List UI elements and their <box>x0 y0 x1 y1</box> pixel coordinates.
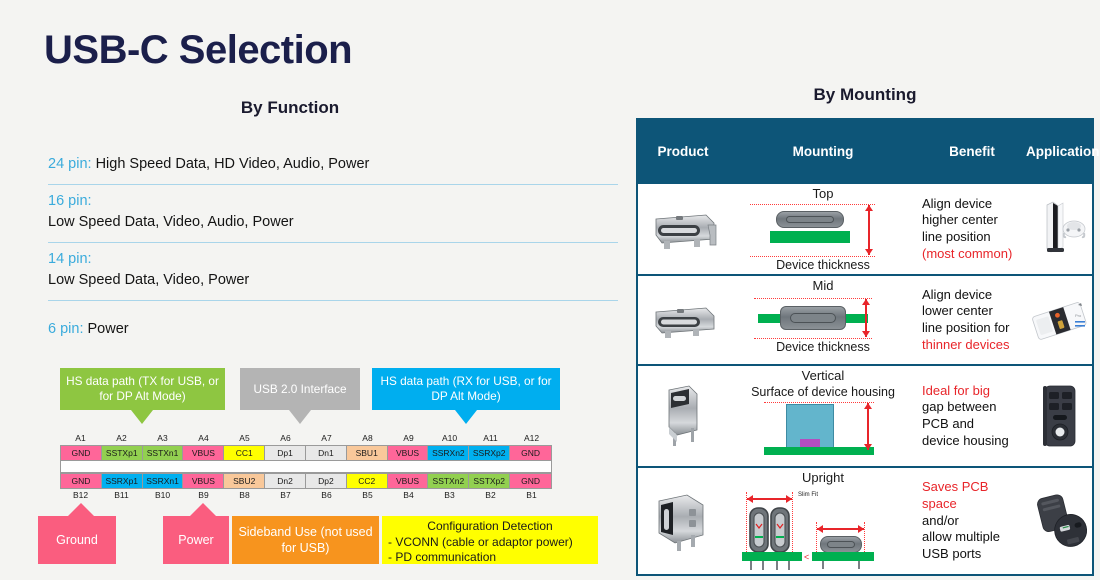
power-hub-icon <box>1033 380 1085 452</box>
cell-mounting: Top Device thickness <box>728 184 918 274</box>
benefit-text: Align device higher center line position… <box>922 196 1012 263</box>
pcb-board-icon-2 <box>812 552 874 561</box>
pin-cell: SSTXp1 <box>102 446 143 460</box>
comparison-marker: < <box>804 552 809 562</box>
function-arrow-usb2-icon <box>289 410 311 424</box>
cell-benefit: Align device lower center line position … <box>918 276 1026 364</box>
pin-position-label: B6 <box>306 489 347 502</box>
pin-position-label: A10 <box>429 432 470 445</box>
pin-position-label: A11 <box>470 432 511 445</box>
pin-position-label: A7 <box>306 432 347 445</box>
config-line-1: - VCONN (cable or adaptor power) <box>388 535 573 551</box>
mount-type-label: Upright <box>728 470 918 485</box>
function-arrow-rx-icon <box>455 410 477 424</box>
page-title: USB-C Selection <box>44 28 352 73</box>
benefit-text: Ideal for big gap between PCB and device… <box>922 383 1009 450</box>
cell-product <box>638 468 728 574</box>
pin-summary-item: 16 pin: Low Speed Data, Video, Audio, Po… <box>48 185 618 243</box>
cell-benefit: Ideal for big gap between PCB and device… <box>918 366 1026 466</box>
mid-mount-connector-icon <box>648 296 718 344</box>
gap-dimension-arrow-icon <box>867 403 869 450</box>
benefit-line: lower center <box>922 303 1009 320</box>
pin-cell: SSTXn2 <box>428 474 469 488</box>
pin-cell: SBU2 <box>224 474 265 488</box>
mount-sub-label: Surface of device housing <box>728 385 918 399</box>
mounting-table: Product Mounting Benefit Application <box>636 118 1094 576</box>
pin-cell: SSRXn1 <box>143 474 184 488</box>
table-row: Vertical Surface of device housing Ideal… <box>638 364 1092 466</box>
pin-desc-label: Low Speed Data, Video, Power <box>48 270 618 291</box>
pin-position-label: A9 <box>388 432 429 445</box>
pin-cell: SSRXn2 <box>428 446 469 460</box>
function-arrow-tx-icon <box>131 410 153 424</box>
pin-count-label: 14 pin: <box>48 249 618 270</box>
pin-cell: CC2 <box>347 474 388 488</box>
connector-contact-icon <box>800 439 820 447</box>
pin-cell: GND <box>61 474 102 488</box>
housing-surface-line <box>764 402 874 403</box>
table-row: Upright Slim Fit <box>638 466 1092 574</box>
benefit-line: line position for <box>922 320 1009 337</box>
legend-power: Power <box>163 516 229 564</box>
game-console-icon <box>1029 199 1089 259</box>
pin-position-label: A6 <box>265 432 306 445</box>
pin-position-label: B3 <box>429 489 470 502</box>
benefit-text: Align device lower center line position … <box>922 287 1009 354</box>
pin-position-label: B2 <box>470 489 511 502</box>
pcb-board-icon <box>742 552 802 561</box>
benefit-line: Align device <box>922 287 1009 304</box>
pin-position-label: A2 <box>101 432 142 445</box>
dim-guide-right <box>792 492 793 556</box>
cell-mounting: Vertical Surface of device housing <box>728 366 918 466</box>
pcb-board-icon <box>764 447 874 455</box>
pin-summary-item: 6 pin: Power <box>48 301 618 349</box>
column-header-mounting: Mounting <box>728 144 918 159</box>
connector-cross-section-icon <box>780 306 846 330</box>
benefit-emphasis: thinner devices <box>922 337 1009 354</box>
cell-product <box>638 366 728 466</box>
legend-sideband: Sideband Use (not used for USB) <box>232 516 379 564</box>
cell-application <box>1026 468 1092 574</box>
pin-cell: Dn1 <box>306 446 347 460</box>
pin-position-label: B1 <box>511 489 552 502</box>
cell-mounting: Upright Slim Fit <box>728 468 918 574</box>
function-group-boxes: HS data path (TX for USB, or for DP Alt … <box>60 368 560 428</box>
pin-position-label: A12 <box>511 432 552 445</box>
cell-mounting: Mid Device thickness <box>728 276 918 364</box>
function-box-usb2: USB 2.0 Interface <box>240 368 360 410</box>
pin-cell: Dn2 <box>265 474 306 488</box>
legend-ground: Ground <box>38 516 116 564</box>
benefit-line: USB ports <box>922 546 1026 563</box>
thickness-dimension-arrow-icon <box>865 299 867 337</box>
pin-position-label: B7 <box>265 489 306 502</box>
usb-c-pinout-table: A1A2A3A4A5A6A7A8A9A10A11A12 GNDSSTXp1SST… <box>60 432 552 502</box>
mount-sub-label: Device thickness <box>728 258 918 272</box>
benefit-emphasis: Saves PCB space <box>922 479 1026 512</box>
connector-cross-section-icon <box>776 211 844 228</box>
pin-position-label: A1 <box>60 432 101 445</box>
mount-type-label: Vertical <box>728 368 918 383</box>
bottom-guide-line <box>754 338 872 339</box>
svg-text:Pro: Pro <box>1075 313 1082 318</box>
width-dimension-arrow-icon-2 <box>817 528 864 530</box>
pin-cell: GND <box>61 446 102 460</box>
pin-desc-label: High Speed Data, HD Video, Audio, Power <box>96 156 370 172</box>
legend-config-detection: Configuration Detection - VCONN (cable o… <box>382 516 598 564</box>
table-row: Top Device thickness Align device higher… <box>638 182 1092 274</box>
by-mounting-heading: By Mounting <box>636 85 1094 105</box>
pin-cell: SSTXn1 <box>143 446 184 460</box>
pin-top-row: GNDSSTXp1SSTXn1VBUSCC1Dp1Dn1SBU1VBUSSSRX… <box>60 445 552 461</box>
column-header-application: Application <box>1026 144 1092 159</box>
top-guide-line <box>750 204 875 205</box>
config-line-2: - PD communication <box>388 550 496 566</box>
pin-desc-label: Low Speed Data, Video, Audio, Power <box>48 212 618 233</box>
benefit-line: Align device <box>922 196 1012 213</box>
mount-type-label: Mid <box>728 278 918 293</box>
pin-cell: VBUS <box>388 474 429 488</box>
cell-application: Pro <box>1026 276 1092 364</box>
by-function-panel: USB-C Selection By Function 24 pin: High… <box>0 0 630 580</box>
pin-bottom-label-row: B12B11B10B9B8B7B6B5B4B3B2B1 <box>60 489 552 502</box>
vertical-mount-connector-icon <box>653 380 713 452</box>
benefit-text: Saves PCB space and/or allow multiple US… <box>922 479 1026 562</box>
benefit-line: allow multiple <box>922 529 1026 546</box>
pin-cell: VBUS <box>388 446 429 460</box>
upright-mount-connector-icon <box>647 485 719 557</box>
pin-legend: Ground Power Sideband Use (not used for … <box>38 516 598 574</box>
table-row: Mid Device thickness Align device lower … <box>638 274 1092 364</box>
cell-benefit: Align device higher center line position… <box>918 184 1026 274</box>
slim-fit-label: Slim Fit <box>798 492 818 498</box>
pin-cell: GND <box>510 446 551 460</box>
pin-summary-list: 24 pin: High Speed Data, HD Video, Audio… <box>48 148 618 349</box>
column-header-product: Product <box>638 144 728 159</box>
pin-cell: CC1 <box>224 446 265 460</box>
pin-count-label: 16 pin: <box>48 191 618 212</box>
column-header-benefit: Benefit <box>918 144 1026 159</box>
benefit-line: higher center <box>922 212 1012 229</box>
function-box-rx: HS data path (RX for USB, or for DP Alt … <box>372 368 560 410</box>
cell-product <box>638 184 728 274</box>
thickness-dimension-arrow-icon <box>868 205 870 255</box>
benefit-emphasis: Ideal for big <box>922 383 1009 400</box>
top-guide-line <box>754 298 872 299</box>
dual-upright-connector-icon <box>748 506 792 556</box>
cell-product <box>638 276 728 364</box>
config-title: Configuration Detection <box>388 519 592 535</box>
pin-position-label: B9 <box>183 489 224 502</box>
pin-position-label: A5 <box>224 432 265 445</box>
pin-position-label: B10 <box>142 489 183 502</box>
car-charger-icon <box>1028 485 1090 557</box>
cell-benefit: Saves PCB space and/or allow multiple US… <box>918 468 1026 574</box>
pin-top-label-row: A1A2A3A4A5A6A7A8A9A10A11A12 <box>60 432 552 445</box>
bottom-guide-line <box>750 256 875 257</box>
pin-count-label: 24 pin: <box>48 156 92 172</box>
pin-summary-item: 14 pin: Low Speed Data, Video, Power <box>48 243 618 301</box>
pin-count-label: 6 pin: <box>48 321 83 337</box>
benefit-line: gap between <box>922 399 1009 416</box>
pin-cell: SBU1 <box>347 446 388 460</box>
pin-position-label: B11 <box>101 489 142 502</box>
pin-desc-label: Power <box>88 321 129 337</box>
top-mount-connector-icon <box>648 205 718 253</box>
pin-position-label: B12 <box>60 489 101 502</box>
benefit-line: PCB and <box>922 416 1009 433</box>
benefit-line: and/or <box>922 513 1026 530</box>
flat-connector-cross-section-icon <box>820 536 862 553</box>
pin-cell: VBUS <box>183 474 224 488</box>
pin-position-label: B5 <box>347 489 388 502</box>
pin-cell: SSTXp2 <box>469 474 510 488</box>
pin-cell: VBUS <box>183 446 224 460</box>
cell-application <box>1026 366 1092 466</box>
pin-cell: SSRXp2 <box>469 446 510 460</box>
by-mounting-panel: By Mounting Product Mounting Benefit App… <box>636 0 1096 580</box>
benefit-line: device housing <box>922 433 1009 450</box>
function-box-tx: HS data path (TX for USB, or for DP Alt … <box>60 368 225 410</box>
pin-summary-item: 24 pin: High Speed Data, HD Video, Audio… <box>48 148 618 185</box>
dim-guide-right-2 <box>864 522 865 556</box>
mount-type-label: Top <box>728 186 918 201</box>
width-dimension-arrow-icon <box>747 498 792 500</box>
cell-application <box>1026 184 1092 274</box>
pin-cell: GND <box>510 474 551 488</box>
pin-position-label: A4 <box>183 432 224 445</box>
pin-position-label: B4 <box>388 489 429 502</box>
benefit-line: line position <box>922 229 1012 246</box>
pin-bottom-row: GNDSSRXp1SSRXn1VBUSSBU2Dn2Dp2CC2VBUSSSTX… <box>60 473 552 489</box>
smartphone-icon: Pro <box>1028 291 1090 349</box>
pin-position-label: A3 <box>142 432 183 445</box>
pin-position-label: A8 <box>347 432 388 445</box>
benefit-emphasis: (most common) <box>922 246 1012 263</box>
pin-cell: Dp1 <box>265 446 306 460</box>
pin-cell: Dp2 <box>306 474 347 488</box>
by-function-heading: By Function <box>0 98 580 118</box>
pin-row-divider <box>60 461 552 473</box>
pcb-board-icon <box>770 231 850 243</box>
mounting-table-header: Product Mounting Benefit Application <box>638 120 1092 182</box>
pin-position-label: B8 <box>224 489 265 502</box>
pin-cell: SSRXp1 <box>102 474 143 488</box>
mount-sub-label: Device thickness <box>728 340 918 354</box>
